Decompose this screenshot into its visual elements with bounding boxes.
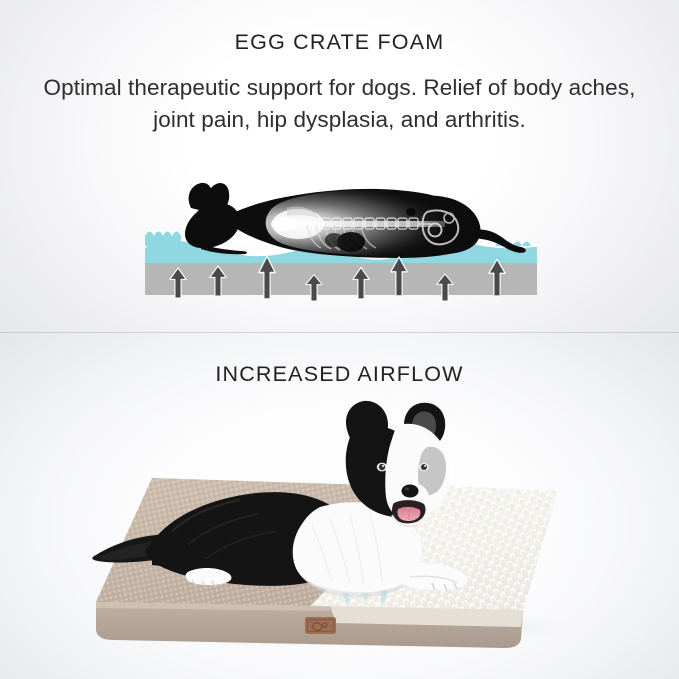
increased-airflow-heading: INCREASED AIRFLOW bbox=[0, 362, 679, 387]
egg-crate-foam-description: Optimal therapeutic support for dogs. Re… bbox=[34, 72, 645, 136]
dog-xray-on-mattress-diagram bbox=[135, 168, 547, 308]
mattress-base bbox=[145, 261, 537, 295]
brand-logo-tag bbox=[305, 617, 336, 634]
egg-crate-foam-heading: EGG CRATE FOAM bbox=[0, 30, 679, 55]
product-infographic: EGG CRATE FOAM Optimal therapeutic suppo… bbox=[0, 0, 679, 679]
egg-crate-foam-panel: EGG CRATE FOAM Optimal therapeutic suppo… bbox=[0, 0, 679, 333]
border-collie-on-dog-bed-photo bbox=[0, 395, 679, 679]
